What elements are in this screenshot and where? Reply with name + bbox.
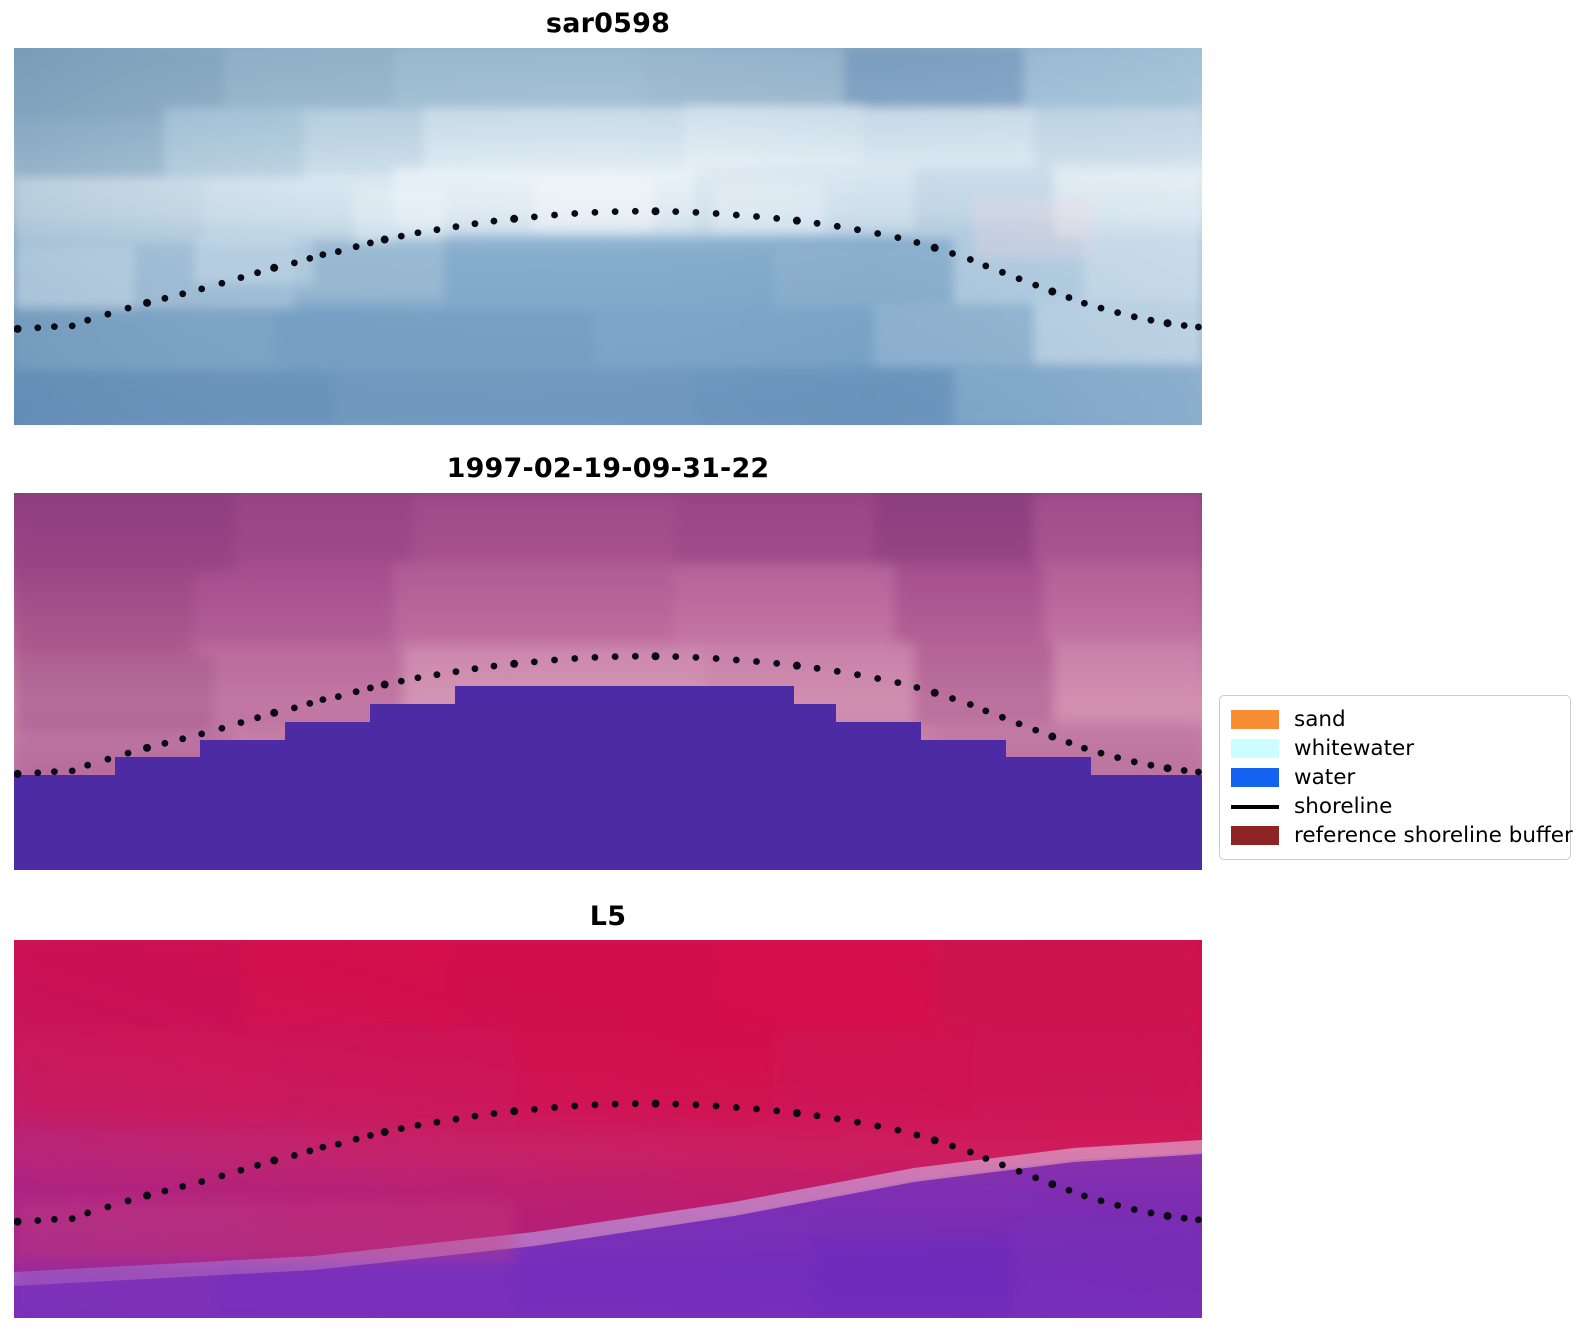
legend-label-water: water bbox=[1294, 767, 1355, 789]
reference-buffer-swatch bbox=[1231, 826, 1279, 845]
panel-sar-image bbox=[14, 48, 1202, 425]
legend-label-reference-buffer: reference shoreline buffer bbox=[1294, 825, 1573, 847]
legend-item-shoreline: shoreline bbox=[1231, 792, 1559, 821]
legend-label-sand: sand bbox=[1294, 709, 1346, 731]
panel-title-sar: sar0598 bbox=[0, 10, 1216, 37]
legend-item-sand: sand bbox=[1231, 705, 1559, 734]
sar-raster bbox=[14, 48, 1202, 425]
index-raster bbox=[14, 940, 1202, 1318]
legend-label-shoreline: shoreline bbox=[1294, 796, 1392, 818]
whitewater-swatch bbox=[1231, 739, 1279, 758]
classification-raster bbox=[14, 493, 1202, 870]
panel-classification-image bbox=[14, 493, 1202, 870]
legend-item-water: water bbox=[1231, 763, 1559, 792]
legend: sand whitewater water shoreline referenc… bbox=[1219, 695, 1571, 860]
legend-item-reference-buffer: reference shoreline buffer bbox=[1231, 821, 1559, 850]
panel-title-classification: 1997-02-19-09-31-22 bbox=[0, 455, 1216, 482]
panel-title-index: L5 bbox=[0, 903, 1216, 930]
panel-index-image bbox=[14, 940, 1202, 1318]
legend-label-whitewater: whitewater bbox=[1294, 738, 1414, 760]
legend-item-whitewater: whitewater bbox=[1231, 734, 1559, 763]
sand-swatch bbox=[1231, 710, 1279, 729]
water-swatch bbox=[1231, 768, 1279, 787]
shoreline-detection-figure: sar0598 bbox=[0, 0, 1580, 1337]
shoreline-line-swatch bbox=[1231, 797, 1279, 816]
